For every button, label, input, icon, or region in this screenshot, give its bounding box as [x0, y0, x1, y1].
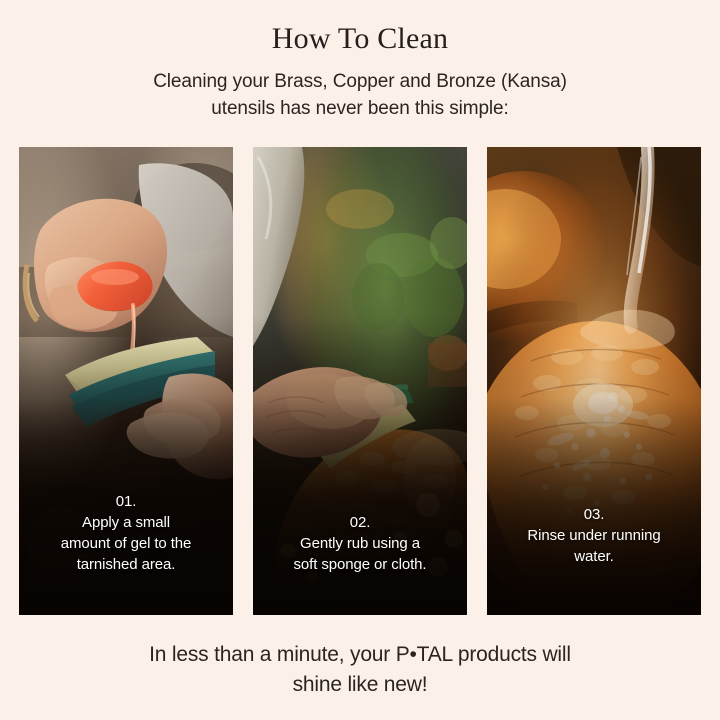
steps-gallery: 01. Apply a small amount of gel to the t…	[19, 147, 701, 615]
footer-line-1: In less than a minute, your P•TAL produc…	[0, 640, 720, 670]
step-3-caption-line-1: Rinse under running	[495, 525, 693, 546]
step-panel-3[interactable]: 03. Rinse under running water.	[487, 147, 701, 615]
step-panel-1[interactable]: 01. Apply a small amount of gel to the t…	[19, 147, 233, 615]
header: How To Clean Cleaning your Brass, Copper…	[0, 0, 720, 122]
page-title: How To Clean	[0, 0, 720, 56]
step-1-caption-line-1: Apply a small	[27, 512, 225, 533]
step-2-caption: 02. Gently rub using a soft sponge or cl…	[261, 512, 459, 575]
how-to-clean-infographic: How To Clean Cleaning your Brass, Copper…	[0, 0, 720, 720]
page-subtitle-line-2: utensils has never been this simple:	[0, 95, 720, 122]
step-1-caption-line-3: tarnished area.	[27, 554, 225, 575]
footer-text: In less than a minute, your P•TAL produc…	[0, 640, 720, 700]
step-3-caption-line-2: water.	[495, 546, 693, 567]
step-1-caption: 01. Apply a small amount of gel to the t…	[27, 491, 225, 575]
footer: In less than a minute, your P•TAL produc…	[0, 640, 720, 700]
step-2-number: 02.	[261, 512, 459, 533]
step-3-caption: 03. Rinse under running water.	[495, 504, 693, 567]
step-1-caption-line-2: amount of gel to the	[27, 533, 225, 554]
footer-line-2: shine like new!	[0, 670, 720, 700]
step-3-number: 03.	[495, 504, 693, 525]
page-subtitle-line-1: Cleaning your Brass, Copper and Bronze (…	[0, 68, 720, 95]
step-1-number: 01.	[27, 491, 225, 512]
step-2-caption-line-2: soft sponge or cloth.	[261, 554, 459, 575]
step-panel-2[interactable]: 02. Gently rub using a soft sponge or cl…	[253, 147, 467, 615]
step-2-caption-line-1: Gently rub using a	[261, 533, 459, 554]
page-subtitle: Cleaning your Brass, Copper and Bronze (…	[0, 56, 720, 122]
